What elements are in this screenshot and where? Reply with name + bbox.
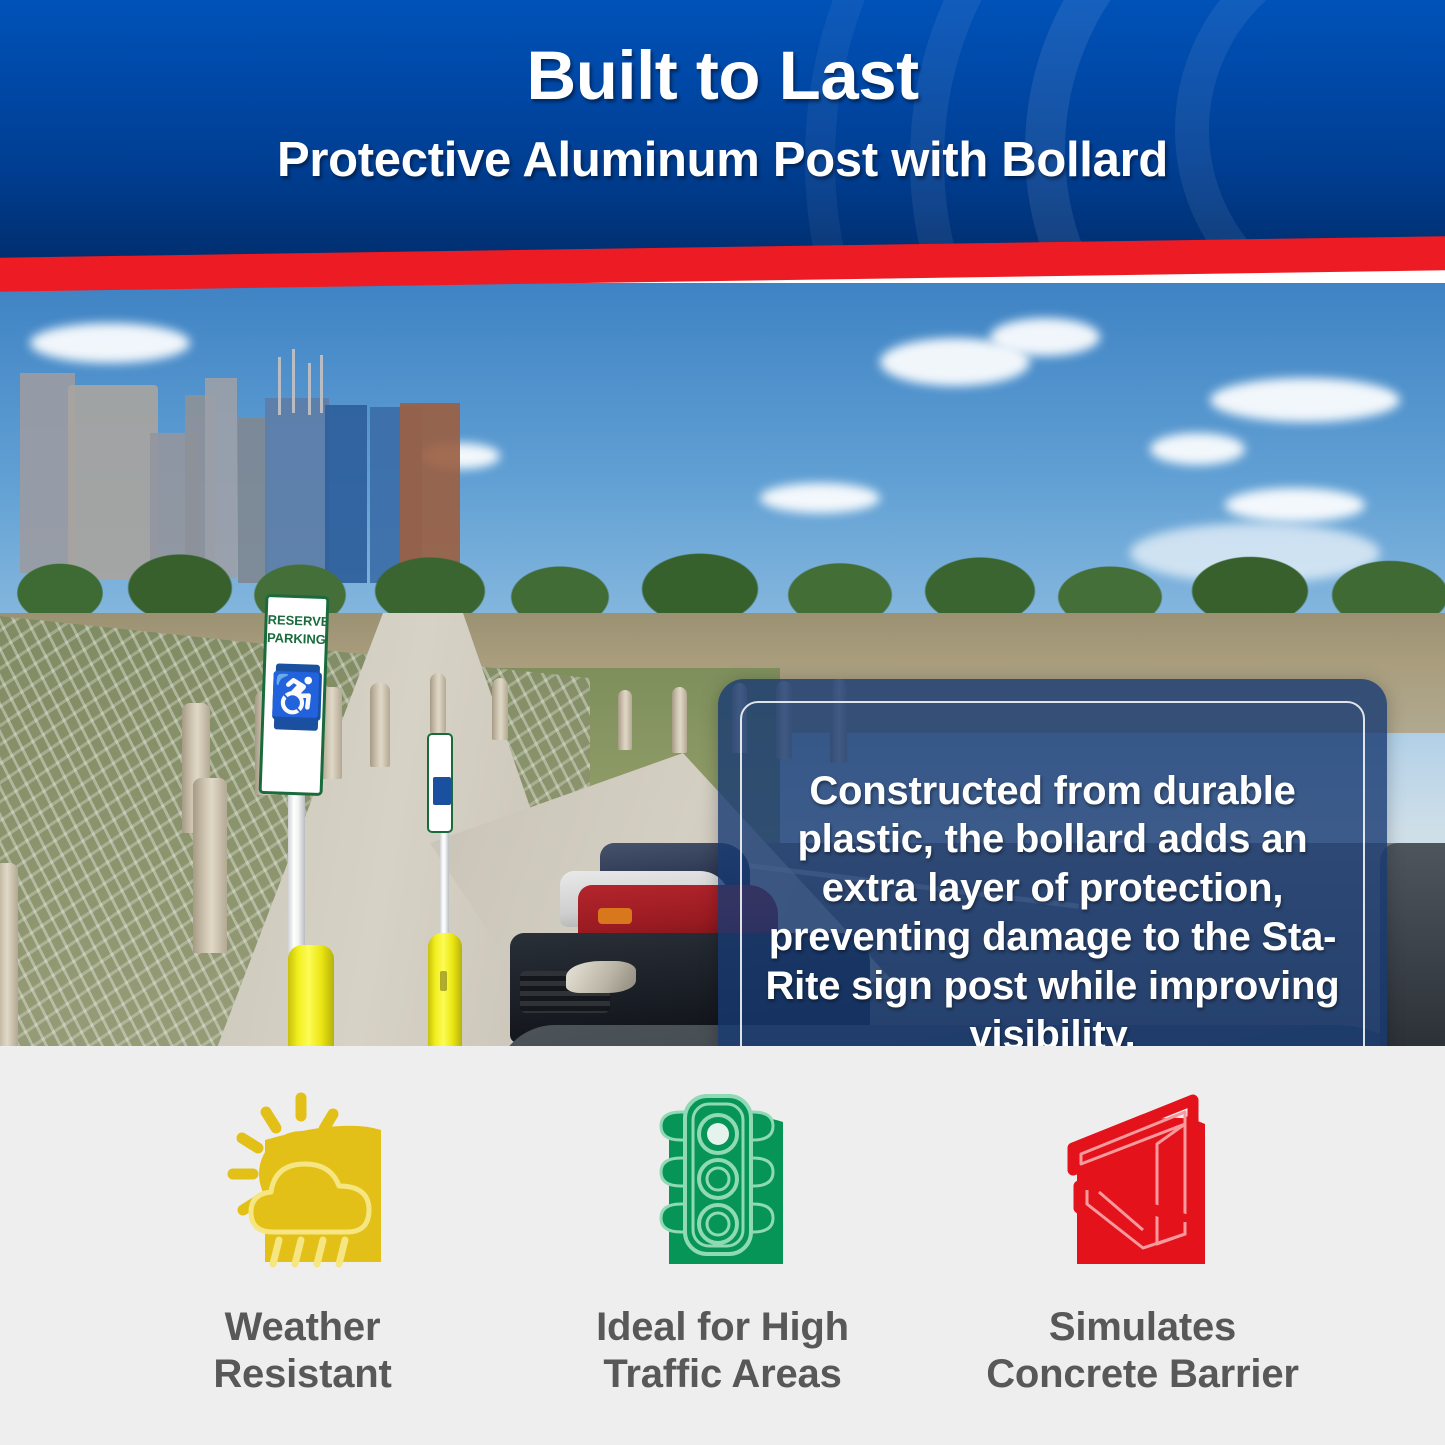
bollard-slot: [440, 971, 447, 991]
construction-crane: [308, 363, 311, 415]
feature-label-weather: Weather Resistant: [213, 1304, 391, 1398]
headlight: [566, 961, 636, 993]
concrete-bollard: [672, 687, 687, 753]
feature-weather-resistant: Weather Resistant: [93, 1082, 513, 1445]
header-text-block: Built to Last Protective Aluminum Post w…: [0, 0, 1445, 188]
sign-text-line1: RESERVED: [267, 613, 325, 630]
traffic-light-icon: [623, 1082, 823, 1272]
callout-box: Constructed from durable plastic, the bo…: [718, 679, 1387, 1046]
product-photo: RESERVED PARKING ♿ Constructed from dura…: [0, 283, 1445, 1046]
concrete-bollard: [193, 778, 227, 953]
concrete-bollard: [0, 863, 18, 1046]
cloud: [760, 483, 880, 513]
feature-label-line1: Ideal for High: [596, 1304, 849, 1351]
wheelchair-glyph: ♿: [269, 674, 325, 720]
construction-crane: [320, 355, 323, 413]
turn-signal-light: [598, 908, 632, 924]
callout-inner-border: Constructed from durable plastic, the bo…: [740, 701, 1365, 1046]
construction-crane: [292, 349, 295, 413]
feature-concrete-barrier: Simulates Concrete Barrier: [933, 1082, 1353, 1445]
feature-high-traffic: Ideal for High Traffic Areas: [513, 1082, 933, 1445]
callout-text: Constructed from durable plastic, the bo…: [764, 767, 1341, 1046]
wheelchair-symbol-icon: [433, 777, 451, 805]
concrete-bollard: [492, 678, 508, 740]
construction-crane: [278, 357, 281, 415]
feature-label-line2: Resistant: [213, 1351, 391, 1398]
adjacent-car: [1380, 843, 1445, 1046]
cloud: [30, 323, 190, 363]
wheelchair-symbol-icon: ♿: [274, 663, 320, 730]
feature-label-line2: Concrete Barrier: [986, 1351, 1298, 1398]
feature-label-traffic: Ideal for High Traffic Areas: [596, 1304, 849, 1398]
yellow-bollard-main: [288, 945, 334, 1046]
concrete-bollard: [370, 683, 390, 767]
sign-text-line2: PARKING: [267, 631, 325, 648]
feature-label-line1: Simulates: [986, 1304, 1298, 1351]
feature-label-line1: Weather: [213, 1304, 391, 1351]
sun-cloud-rain-icon: [203, 1082, 403, 1272]
cloud: [1210, 378, 1400, 422]
concrete-bollard: [430, 673, 446, 733]
page-subtitle: Protective Aluminum Post with Bollard: [0, 134, 1445, 188]
concrete-barrier-icon: [1043, 1082, 1243, 1272]
header-banner: Built to Last Protective Aluminum Post w…: [0, 0, 1445, 268]
secondary-parking-sign: [427, 733, 453, 833]
page-title: Built to Last: [0, 40, 1445, 112]
feature-row: Weather Resistant: [0, 1046, 1445, 1445]
cloud: [1150, 433, 1245, 465]
cloud: [990, 318, 1100, 356]
concrete-bollard: [618, 690, 632, 750]
cloud: [1225, 488, 1365, 522]
feature-label-line2: Traffic Areas: [596, 1351, 849, 1398]
feature-label-barrier: Simulates Concrete Barrier: [986, 1304, 1298, 1398]
product-infographic: Built to Last Protective Aluminum Post w…: [0, 0, 1445, 1445]
reserved-parking-sign: RESERVED PARKING ♿: [259, 594, 330, 796]
